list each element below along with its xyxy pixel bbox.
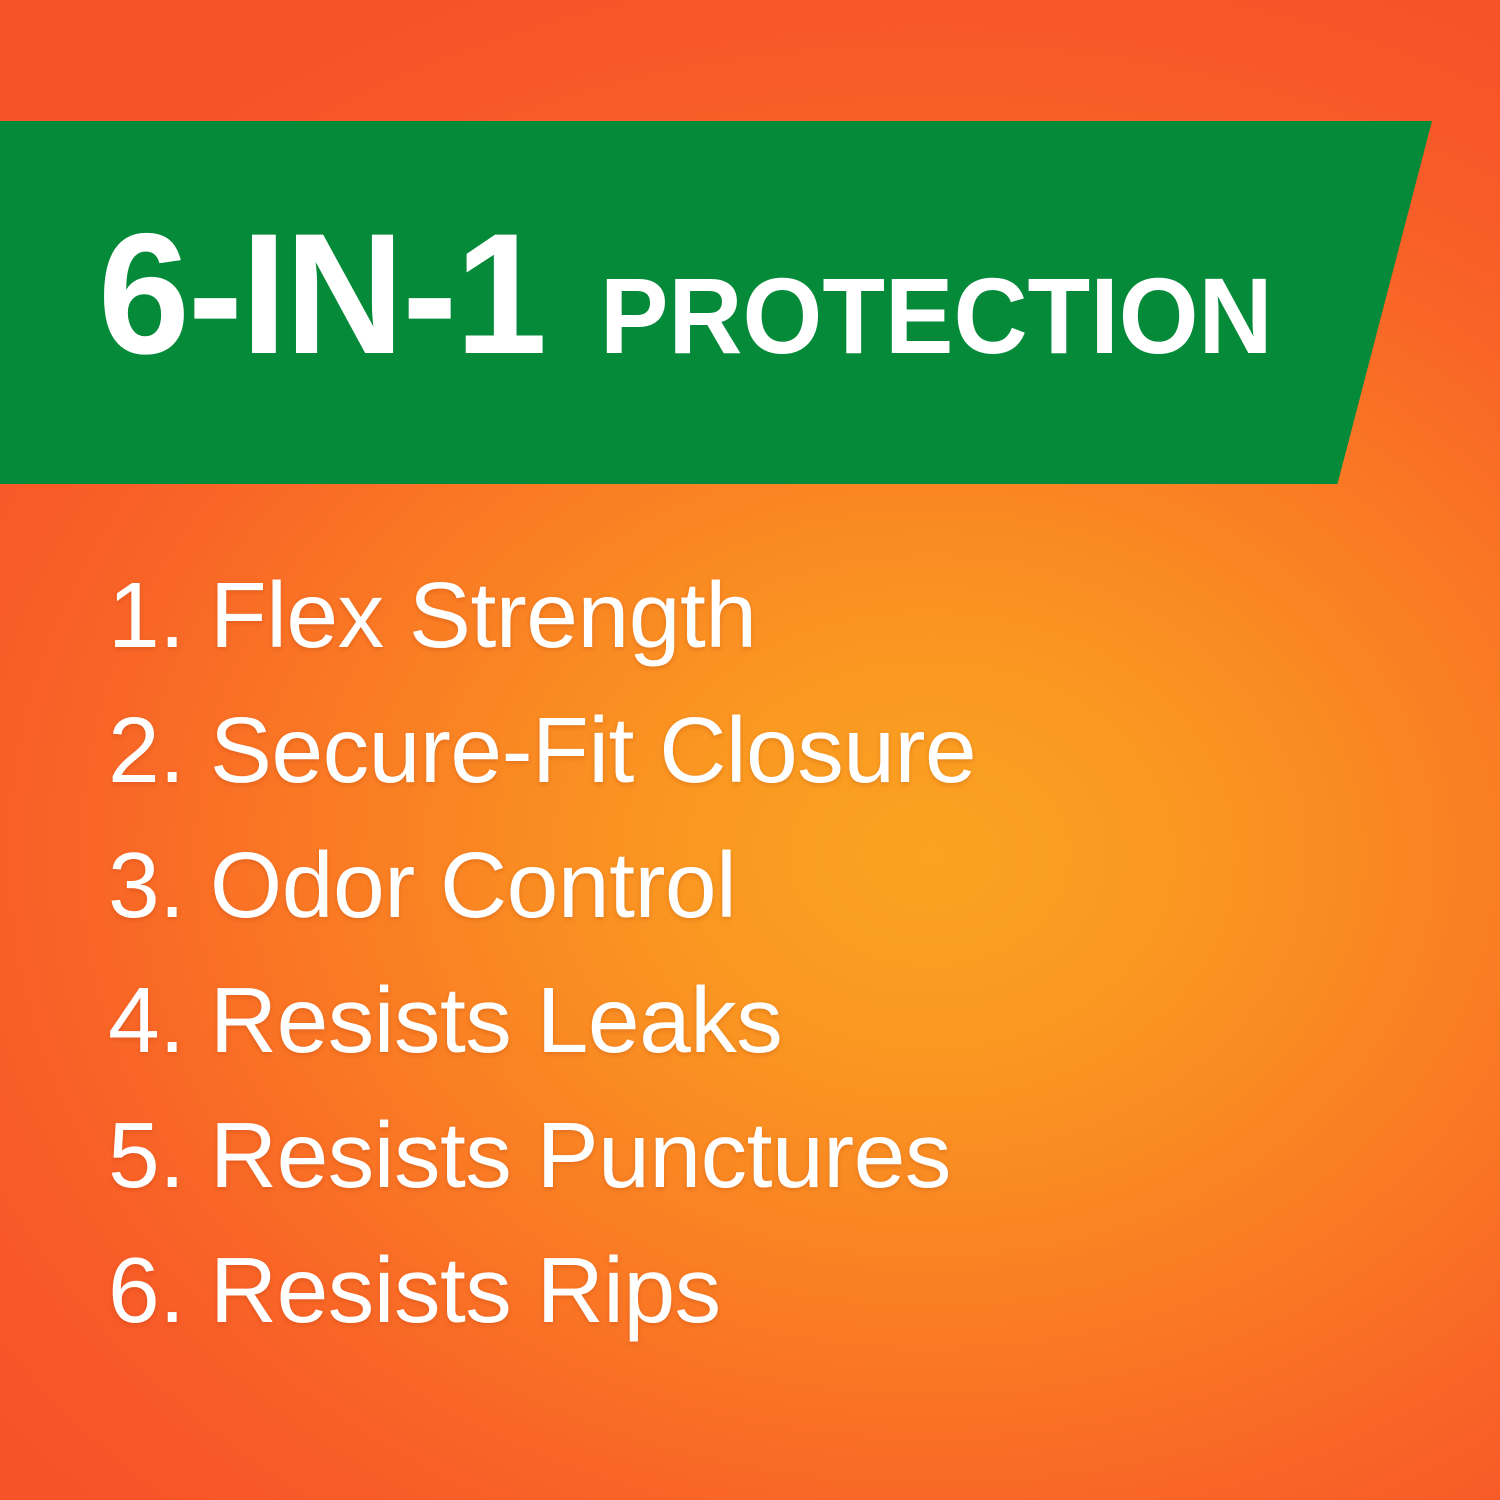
feature-list-item-6: 6. Resists Rips: [108, 1223, 1398, 1358]
feature-list: 1. Flex Strength 2. Secure-Fit Closure 3…: [108, 548, 1398, 1358]
feature-list-item-3: 3. Odor Control: [108, 818, 1398, 953]
headline-primary-text: 6-IN-1: [98, 208, 545, 380]
feature-label-5: Resists Punctures: [210, 1103, 951, 1207]
feature-label-3: Odor Control: [210, 833, 736, 937]
feature-label-4: Resists Leaks: [210, 968, 782, 1072]
feature-list-item-2: 2. Secure-Fit Closure: [108, 683, 1398, 818]
feature-list-item-1: 1. Flex Strength: [108, 548, 1398, 683]
feature-number-1: 1.: [108, 563, 210, 667]
feature-number-4: 4.: [108, 968, 210, 1072]
feature-list-item-5: 5. Resists Punctures: [108, 1088, 1398, 1223]
feature-label-2: Secure-Fit Closure: [210, 698, 976, 802]
feature-number-5: 5.: [108, 1103, 210, 1207]
headline-banner-content: 6-IN-1 PROTECTION: [98, 121, 1308, 484]
headline-secondary-text: PROTECTION: [600, 262, 1273, 370]
feature-label-6: Resists Rips: [210, 1238, 721, 1342]
product-feature-poster: 6-IN-1 PROTECTION 1. Flex Strength 2. Se…: [0, 0, 1500, 1500]
feature-label-1: Flex Strength: [210, 563, 757, 667]
headline: 6-IN-1 PROTECTION: [98, 208, 1308, 380]
feature-number-2: 2.: [108, 698, 210, 802]
feature-number-6: 6.: [108, 1238, 210, 1342]
feature-number-3: 3.: [108, 833, 210, 937]
feature-list-item-4: 4. Resists Leaks: [108, 953, 1398, 1088]
headline-banner: 6-IN-1 PROTECTION: [0, 121, 1432, 484]
